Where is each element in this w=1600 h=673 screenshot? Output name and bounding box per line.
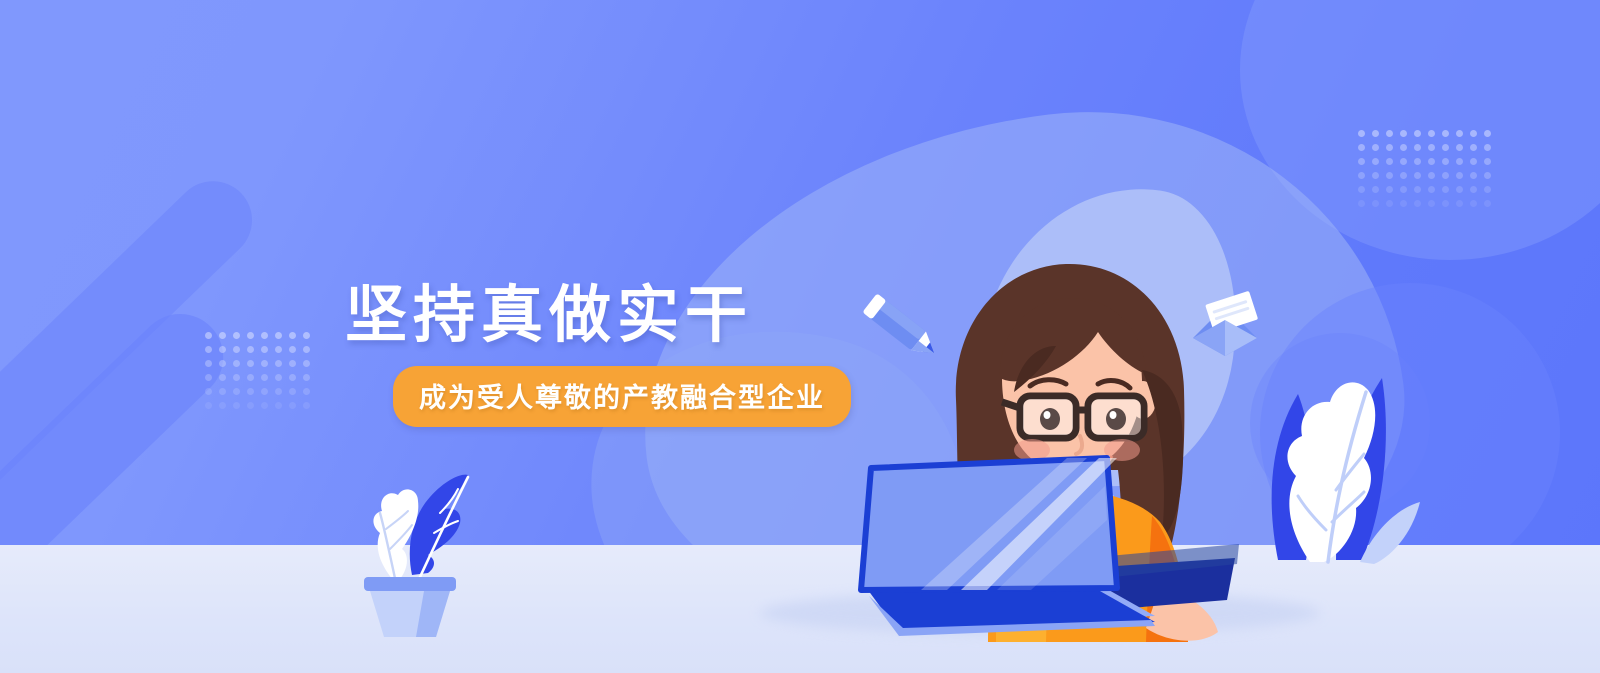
grid-dot [233,374,240,381]
grid-dot [1484,172,1491,179]
grid-dot [1414,158,1421,165]
grid-dot [261,402,268,409]
grid-dot [1386,130,1393,137]
grid-dot [303,346,310,353]
grid-dot [247,346,254,353]
grid-dot [289,388,296,395]
grid-dot [1400,130,1407,137]
grid-dot [205,346,212,353]
grid-dot [1428,144,1435,151]
grid-dot [233,346,240,353]
grid-dot [1358,200,1365,207]
grid-dot [275,388,282,395]
badge-wrapper: 成为受人尊敬的产教融合型企业 [345,366,865,427]
grid-dot [1358,158,1365,165]
grid-dot [275,374,282,381]
grid-dot [1428,200,1435,207]
grid-dot [1484,158,1491,165]
grid-dot [1386,144,1393,151]
grid-dot [1372,158,1379,165]
grid-dot [1414,172,1421,179]
grid-dot [1470,200,1477,207]
grid-dot [1484,130,1491,137]
grid-dot [1470,130,1477,137]
grid-dot [233,360,240,367]
grid-dot [289,374,296,381]
dot-grid-right [1358,130,1491,207]
grid-dot [233,402,240,409]
grid-dot [1372,172,1379,179]
grid-dot [205,360,212,367]
grid-dot [1400,144,1407,151]
grid-dot [1456,130,1463,137]
grid-dot [289,360,296,367]
grid-dot [1428,158,1435,165]
grid-dot [1428,130,1435,137]
grid-dot [219,346,226,353]
grid-dot [261,332,268,339]
leaf-icon [1240,330,1420,565]
grid-dot [247,374,254,381]
grid-dot [1414,200,1421,207]
hero-copy: 坚持真做实干 成为受人尊敬的产教融合型企业 [345,282,865,427]
grid-dot [1400,186,1407,193]
grid-dot [1456,158,1463,165]
grid-dot [1358,130,1365,137]
grid-dot [1372,186,1379,193]
laptop-icon [855,440,1255,645]
grid-dot [247,388,254,395]
grid-dot [219,332,226,339]
grid-dot [247,402,254,409]
grid-dot [1414,144,1421,151]
grid-dot [1470,144,1477,151]
grid-dot [303,388,310,395]
grid-dot [303,360,310,367]
grid-dot [261,374,268,381]
grid-dot [247,360,254,367]
grid-dot [1386,158,1393,165]
grid-dot [1484,200,1491,207]
grid-dot [289,346,296,353]
grid-dot [1428,172,1435,179]
grid-dot [1470,158,1477,165]
grid-dot [1414,186,1421,193]
grid-dot [1456,144,1463,151]
grid-dot [303,402,310,409]
grid-dot [1484,186,1491,193]
grid-dot [289,402,296,409]
grid-dot [205,332,212,339]
grid-dot [303,332,310,339]
grid-dot [1386,172,1393,179]
page-title: 坚持真做实干 [345,282,865,348]
grid-dot [1470,186,1477,193]
grid-dot [1386,186,1393,193]
grid-dot [233,388,240,395]
status-badge: 成为受人尊敬的产教融合型企业 [393,366,851,427]
grid-dot [275,360,282,367]
hero-banner: 坚持真做实干 成为受人尊敬的产教融合型企业 [0,0,1600,673]
grid-dot [261,388,268,395]
grid-dot [205,374,212,381]
grid-dot [1442,144,1449,151]
grid-dot [1428,186,1435,193]
grid-dot [275,332,282,339]
grid-dot [275,402,282,409]
grid-dot [233,332,240,339]
potted-plant-icon [350,455,470,640]
grid-dot [1442,186,1449,193]
grid-dot [1372,144,1379,151]
grid-dot [219,360,226,367]
grid-dot [1358,172,1365,179]
grid-dot [219,374,226,381]
grid-dot [1484,144,1491,151]
grid-dot [1456,200,1463,207]
grid-dot [1414,130,1421,137]
grid-dot [1358,144,1365,151]
grid-dot [219,402,226,409]
grid-dot [1386,200,1393,207]
grid-dot [1470,172,1477,179]
grid-dot [219,388,226,395]
grid-dot [303,374,310,381]
grid-dot [1442,200,1449,207]
grid-dot [275,346,282,353]
grid-dot [289,332,296,339]
grid-dot [261,360,268,367]
grid-dot [1358,186,1365,193]
grid-dot [1442,130,1449,137]
grid-dot [1456,186,1463,193]
grid-dot [1372,130,1379,137]
grid-dot [1442,172,1449,179]
grid-dot [1442,158,1449,165]
grid-dot [1456,172,1463,179]
grid-dot [1372,200,1379,207]
grid-dot [205,402,212,409]
grid-dot [1400,172,1407,179]
grid-dot [1400,200,1407,207]
grid-dot [205,388,212,395]
dot-grid-left [205,332,310,409]
grid-dot [247,332,254,339]
grid-dot [261,346,268,353]
grid-dot [1400,158,1407,165]
